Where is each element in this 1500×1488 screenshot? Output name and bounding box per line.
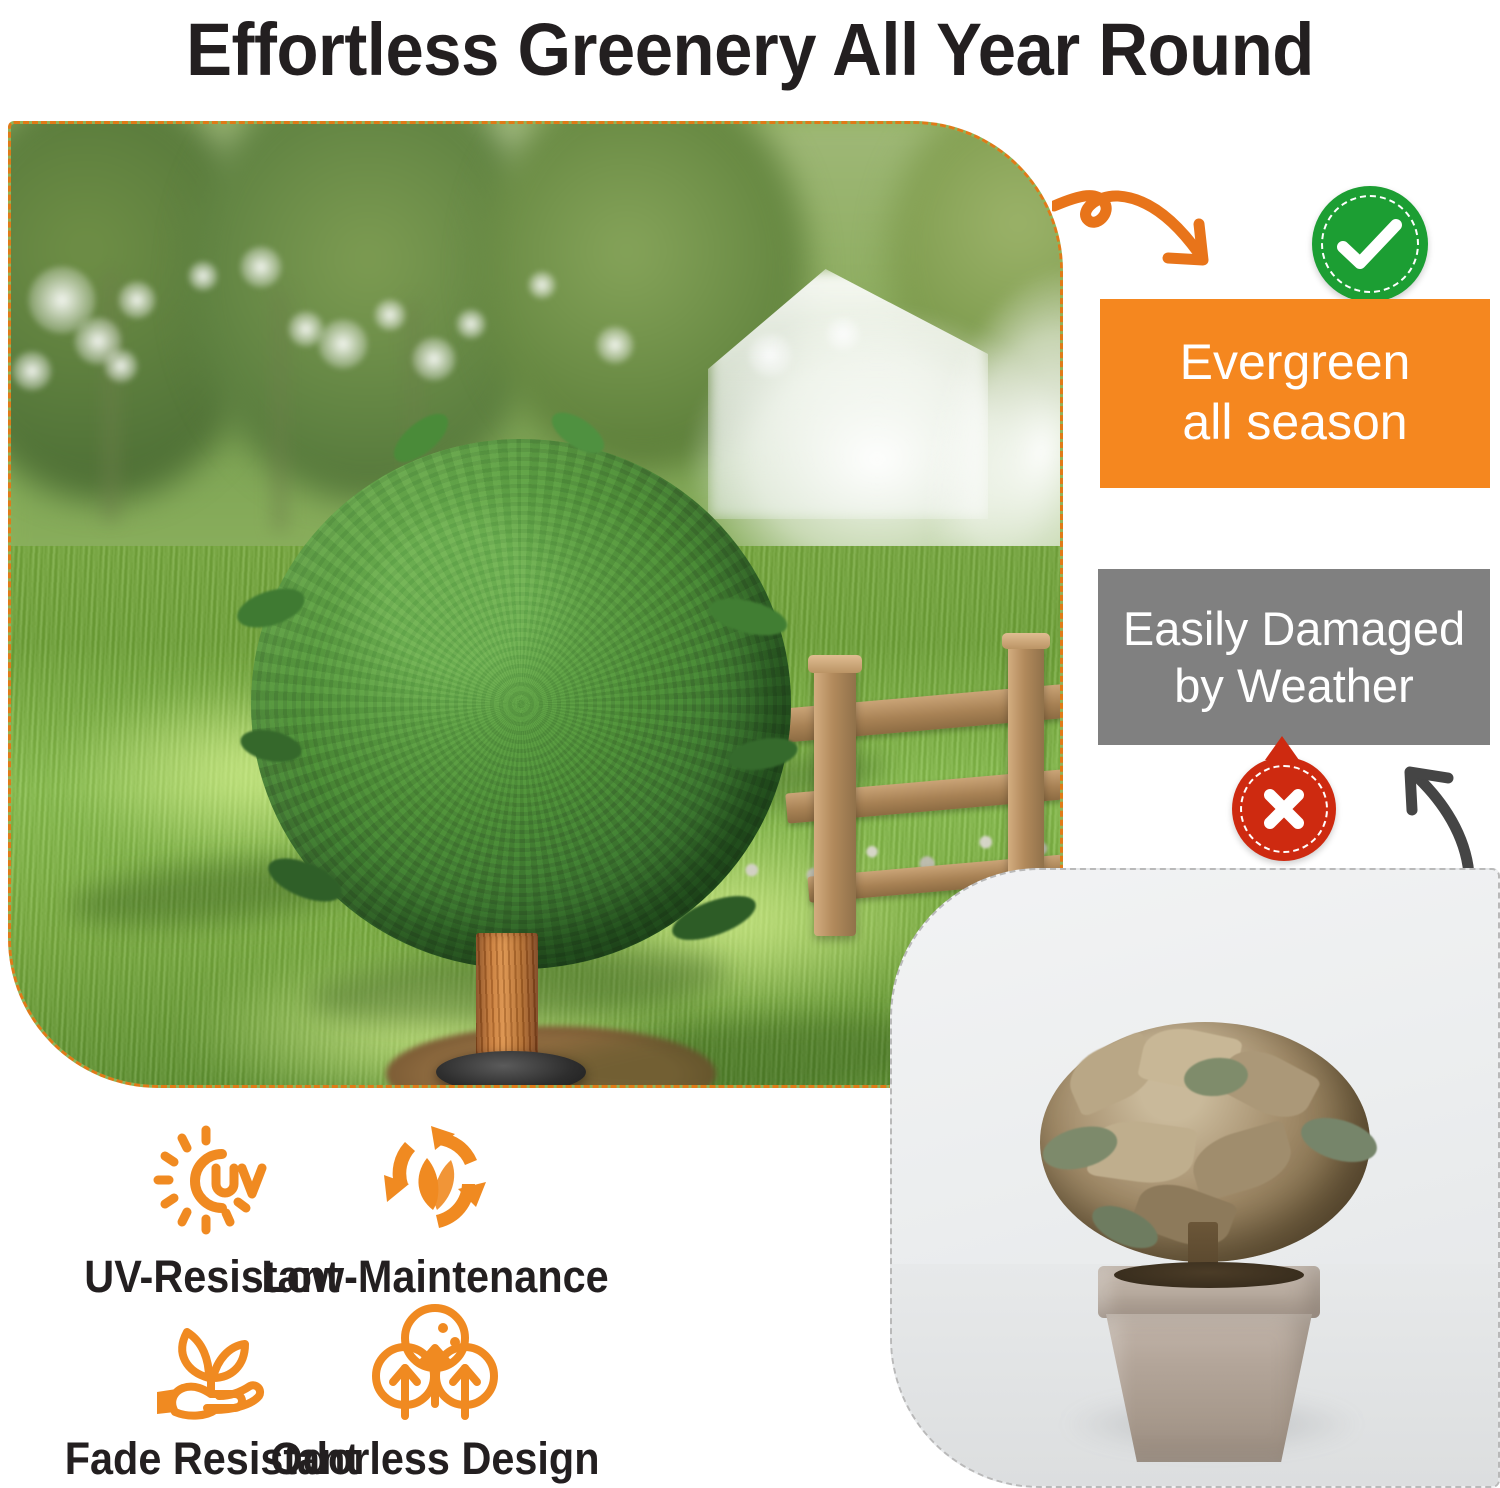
positive-check-pin xyxy=(1312,186,1428,302)
bokeh-highlight xyxy=(118,281,156,319)
feature-label: Low-Maintenance xyxy=(233,1252,638,1302)
background-trunk-2 xyxy=(273,291,287,531)
feature-low-maintenance: Low-Maintenance xyxy=(215,1116,655,1302)
bokeh-highlight xyxy=(412,337,456,381)
pot-soil xyxy=(1114,1262,1304,1288)
bokeh-highlight xyxy=(240,246,282,288)
bokeh-highlight xyxy=(12,351,52,391)
positive-callout-badge: Evergreen all season xyxy=(1100,299,1490,488)
recycle-leaf-icon xyxy=(215,1116,655,1240)
bokeh-highlight xyxy=(596,326,634,364)
fence-post-far xyxy=(1008,643,1044,893)
negative-callout-badge: Easily Damaged by Weather xyxy=(1098,569,1490,745)
feature-odorless-design: Odorless Design xyxy=(215,1298,655,1484)
odor-bubbles-icon xyxy=(215,1298,655,1422)
curved-arrow-to-positive-badge xyxy=(1052,172,1237,292)
bokeh-highlight xyxy=(318,319,368,369)
positive-callout-line1: Evergreen xyxy=(1180,332,1411,392)
positive-callout-line2: all season xyxy=(1180,392,1411,452)
bokeh-highlight xyxy=(374,299,406,331)
page-title: Effortless Greenery All Year Round xyxy=(53,2,1448,98)
negative-callout-line1: Easily Damaged xyxy=(1123,600,1465,657)
negative-callout-line2: by Weather xyxy=(1123,657,1465,714)
bokeh-highlight xyxy=(188,261,218,291)
negative-cross-pin xyxy=(1232,757,1336,861)
bokeh-highlight xyxy=(456,309,486,339)
hero-photo-scene xyxy=(8,121,1063,1088)
topiary-base-disc xyxy=(436,1051,586,1088)
bokeh-highlight xyxy=(528,271,556,299)
feature-grid: UV-Resistant Low-Mainten xyxy=(0,1098,880,1486)
infographic-canvas: Effortless Greenery All Year Round xyxy=(0,0,1500,1488)
check-icon xyxy=(1337,218,1403,270)
background-trunk-1 xyxy=(103,271,119,521)
damaged-plant-panel xyxy=(890,868,1500,1488)
fence-post-near xyxy=(814,666,856,936)
bokeh-highlight xyxy=(104,349,138,383)
cross-icon xyxy=(1258,783,1310,835)
hero-product-photo xyxy=(8,121,1063,1088)
flower-pot xyxy=(1106,1314,1312,1462)
feature-label: Odorless Design xyxy=(233,1434,638,1484)
fence-post-far-cap xyxy=(1002,633,1050,649)
fence-post-cap xyxy=(808,655,862,673)
